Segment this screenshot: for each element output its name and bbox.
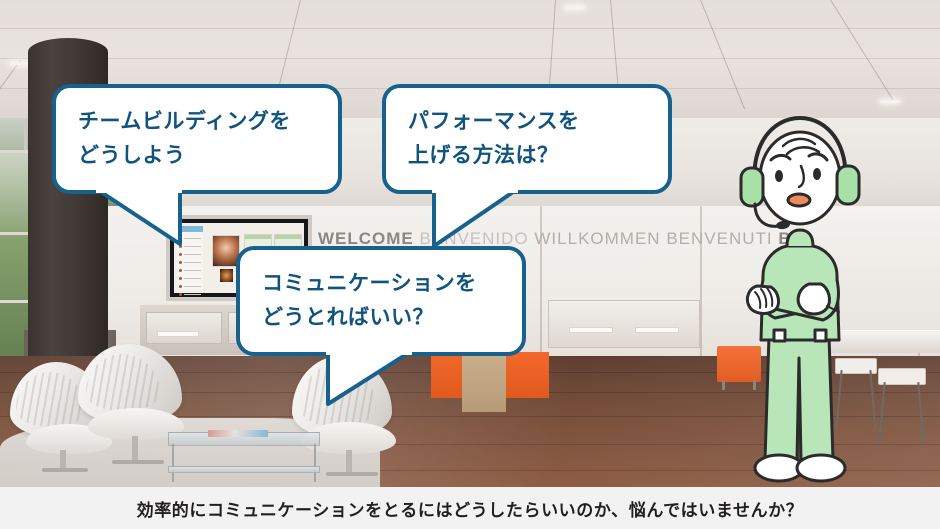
slide-canvas: WELCOME BENVENIDO WILLKOMMEN BENVENUTI B… (0, 0, 940, 529)
speech-bubble-communication[interactable]: コミュニケーションを どうとればいい？ (236, 246, 526, 356)
bubble-tail-communication (326, 350, 412, 412)
magazine (208, 430, 268, 437)
character-worried-operator (735, 108, 865, 487)
bubble-line: どうとればいい？ (262, 301, 500, 335)
speech-bubble-performance[interactable]: パフォーマンスを 上げる方法は？ (382, 84, 672, 194)
bubble-line: パフォーマンスを (408, 105, 646, 139)
caption-bar: 効率的にコミュニケーションをとるにはどうしたらいいのか、悩んではいませんか？ (0, 487, 940, 529)
welcome-word-de: WILLKOMMEN (534, 229, 660, 248)
speech-bubble-team-building[interactable]: チームビルディングを どうしよう (52, 84, 342, 194)
bubble-tail-performance (432, 188, 518, 254)
right-shelf (548, 300, 700, 348)
bubble-tail-team-building (96, 188, 182, 250)
bubble-line: チームビルディングを (78, 105, 316, 139)
bubble-line: 上げる方法は？ (408, 139, 646, 173)
lounge-chair (74, 344, 194, 472)
bubble-line: どうしよう (78, 139, 316, 173)
tan-panel (462, 352, 506, 412)
bubble-line: コミュニケーションを (262, 267, 500, 301)
caption-text: 効率的にコミュニケーションをとるにはどうしたらいいのか、悩んではいませんか？ (137, 496, 804, 521)
